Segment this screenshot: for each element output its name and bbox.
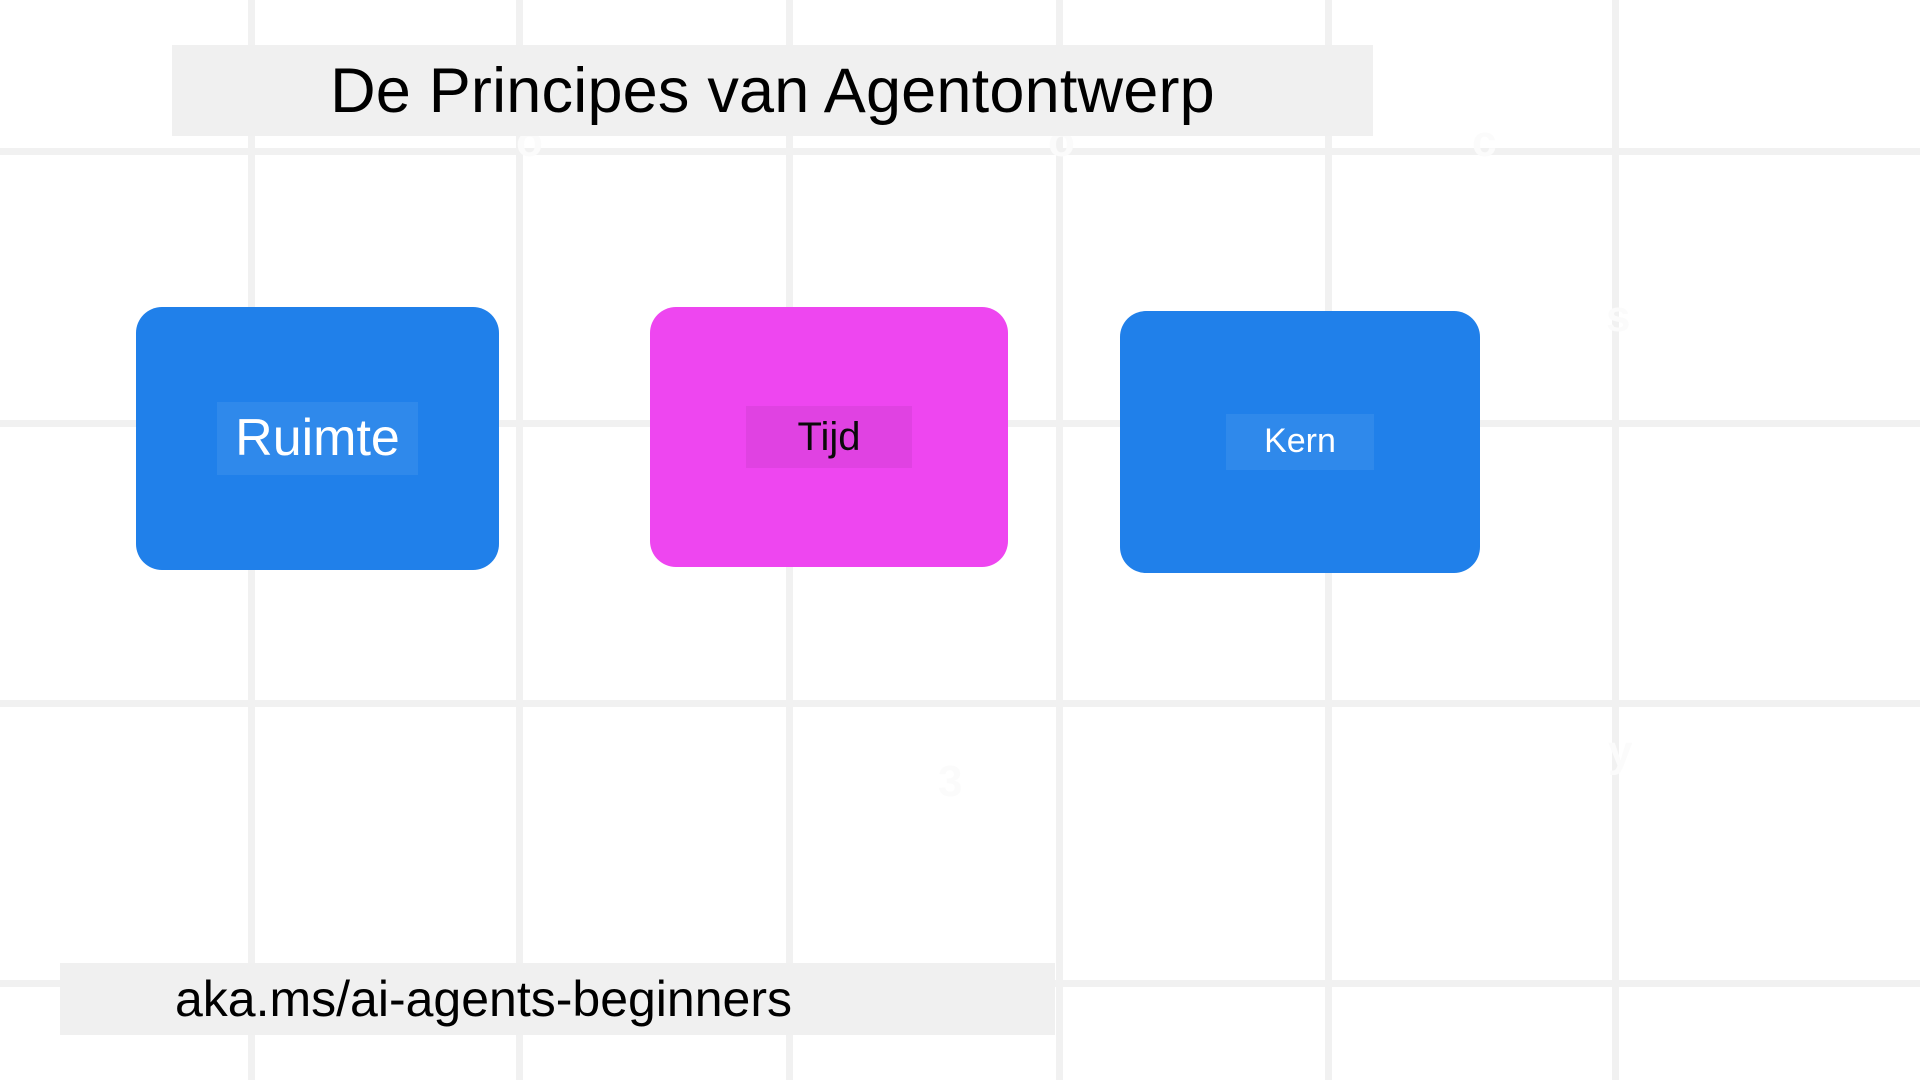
watermark-glyph: c — [1472, 120, 1496, 164]
grid-line-horizontal — [0, 148, 1920, 155]
page-title: De Principes van Agentontwerp — [330, 55, 1215, 127]
grid-line-vertical — [516, 0, 523, 1080]
slide-canvas: s 3 y o o c De Principes van Agentontwer… — [0, 0, 1920, 1080]
footer-link[interactable]: aka.ms/ai-agents-beginners — [60, 970, 792, 1028]
node-ruimte[interactable]: Ruimte — [136, 307, 499, 570]
node-tijd[interactable]: Tijd — [650, 307, 1008, 567]
watermark-glyph: 3 — [938, 760, 962, 804]
grid-line-horizontal — [0, 700, 1920, 707]
footer-banner: aka.ms/ai-agents-beginners — [60, 963, 1055, 1035]
grid-line-vertical — [1612, 0, 1619, 1080]
watermark-glyph: y — [1608, 730, 1632, 774]
node-kern[interactable]: Kern — [1120, 311, 1480, 573]
title-banner: De Principes van Agentontwerp — [172, 45, 1373, 136]
watermark-glyph: s — [1606, 295, 1630, 339]
node-kern-label: Kern — [1226, 414, 1374, 470]
node-tijd-label: Tijd — [746, 406, 913, 468]
grid-line-vertical — [1056, 0, 1063, 1080]
node-ruimte-label: Ruimte — [217, 402, 418, 475]
